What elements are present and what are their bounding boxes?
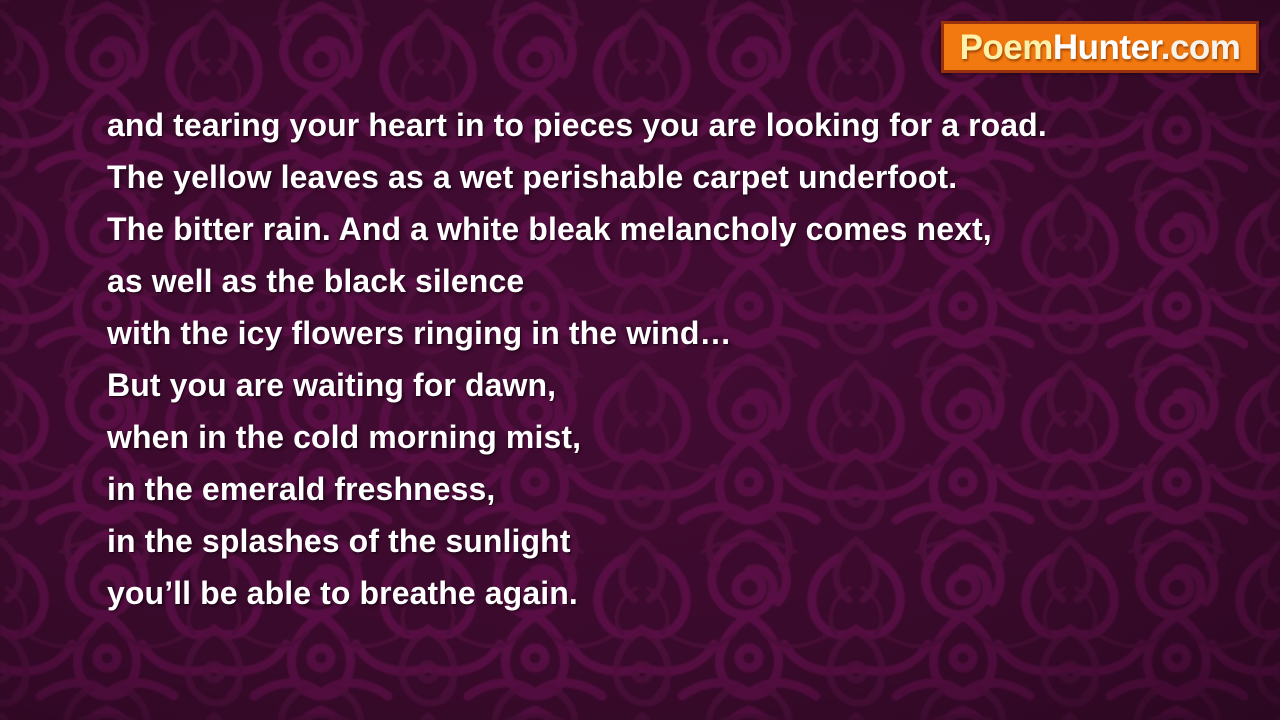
poem-line: The yellow leaves as a wet perishable ca…	[107, 151, 1207, 203]
poem-line: with the icy flowers ringing in the wind…	[107, 307, 1207, 359]
poem-line: in the splashes of the sunlight	[107, 515, 1207, 567]
logo-text-dotcom: .com	[1161, 28, 1241, 67]
poem-line: in the emerald freshness,	[107, 463, 1207, 515]
poem-line: But you are waiting for dawn,	[107, 359, 1207, 411]
poem-line: when in the cold morning mist,	[107, 411, 1207, 463]
poemhunter-logo[interactable]: PoemHunter.com	[941, 21, 1259, 73]
poem-line: you’ll be able to breathe again.	[107, 567, 1207, 619]
poem-line: and tearing your heart in to pieces you …	[107, 99, 1207, 151]
poem-line: as well as the black silence	[107, 255, 1207, 307]
poem-line: The bitter rain. And a white bleak melan…	[107, 203, 1207, 255]
poem-slide: PoemHunter.com and tearing your heart in…	[0, 0, 1280, 720]
poem-text-block: and tearing your heart in to pieces you …	[107, 99, 1207, 619]
logo-text-poem: Poem	[960, 28, 1053, 67]
logo-text-hunter: Hunter	[1053, 28, 1161, 67]
logo-text: PoemHunter.com	[960, 30, 1241, 65]
